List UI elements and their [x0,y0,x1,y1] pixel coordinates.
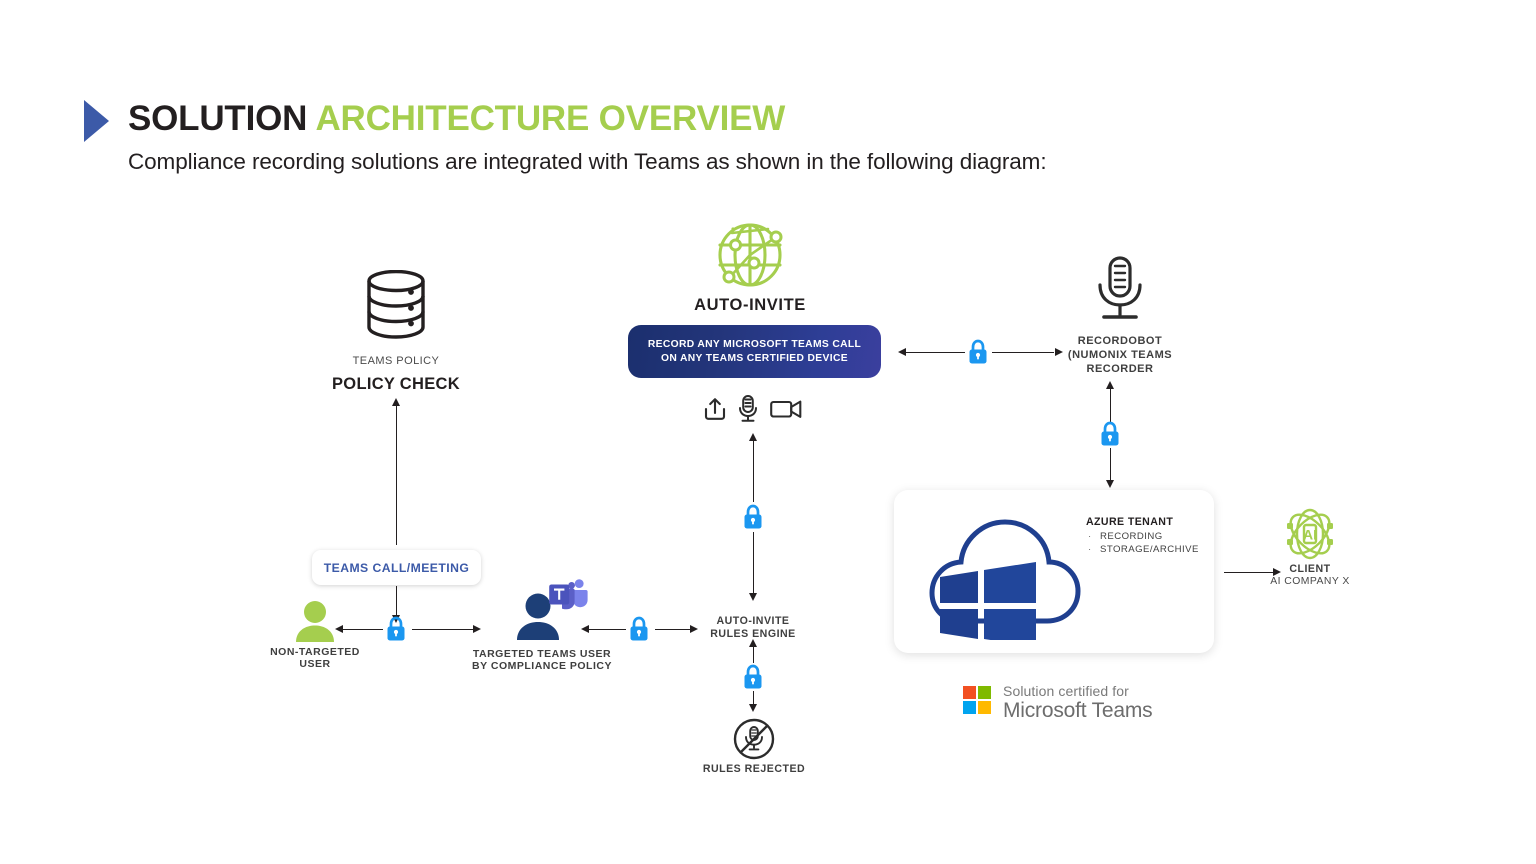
arrow-lock-to-nontargeted-head [335,625,343,633]
arrow-banner-down-line [753,440,754,502]
arrow-rules-up-head2 [749,639,757,647]
arrow-recordobot-right-head [1055,348,1063,356]
ms-teams-certified-logo: Solution certified for Microsoft Teams [963,684,1153,720]
arrow-policy-check-line [396,405,397,545]
ai-atom-icon: AI [1281,505,1339,568]
auto-invite-title: AUTO-INVITE [655,296,845,315]
lock-icon-rules-down [742,664,764,690]
teams-call-meeting-pill: TEAMS CALL/MEETING [312,550,481,585]
targeted-user-caption: TARGETED TEAMS USER BY COMPLIANCE POLICY [458,648,626,673]
client-subtitle: AI COMPANY X [1240,576,1380,588]
arrow-rules-to-lock-line [753,645,754,663]
azure-bullet-marker-1: · [1088,544,1091,555]
arrow-lock-to-targeted-head [473,625,481,633]
arrow-lock-to-rejected-head [749,704,757,712]
page-header: SOLUTION ARCHITECTURE OVERVIEW Complianc… [0,0,1536,200]
azure-tenant-title: AZURE TENANT [1086,516,1173,528]
upload-share-icon [702,396,728,427]
azure-bullet-0: RECORDING [1100,531,1163,542]
azure-cloud-windows-icon [915,505,1085,645]
azure-bullet-marker-0: · [1088,531,1091,542]
arrow-banner-to-lock-line [905,352,965,353]
arrow-lock-to-recordobot-line [992,352,1054,353]
arrow-azure-down-head [1106,480,1114,488]
page-title-part1: SOLUTION [128,99,315,138]
lock-icon-rules-up [742,504,764,530]
microphone-icon [737,394,759,429]
arrow-targeted-left-head [581,625,589,633]
microsoft-teams-logo-icon [548,578,588,617]
database-cylinder-icon [364,270,428,347]
policy-check-title: POLICY CHECK [306,375,486,394]
policy-check-caption: TEAMS POLICY [306,355,486,368]
microphone-muted-icon [732,717,776,766]
ms-certified-line1: Solution certified for [1003,683,1129,699]
arrow-azure-up-line [1110,448,1111,480]
video-camera-icon [770,398,802,425]
arrow-rules-up-line [753,532,754,594]
lock-icon-user-left [385,616,407,642]
arrow-pill-down-line [396,586,397,616]
user-avatar-green-icon [293,600,337,649]
record-banner: RECORD ANY MICROSOFT TEAMS CALL ON ANY T… [628,325,881,378]
rules-engine-caption: AUTO-INVITE RULES ENGINE [683,615,823,640]
microsoft-squares-icon [963,686,993,716]
non-targeted-user-caption: NON-TARGETED USER [245,646,385,671]
arrow-recordobot-down-line [1110,388,1111,422]
arrow-targeted-to-lock-line [588,629,626,630]
azure-bullet-1: STORAGE/ARCHIVE [1100,544,1199,555]
diagram-canvas: SOLUTION ARCHITECTURE OVERVIEW Complianc… [0,0,1536,864]
client-title: CLIENT [1240,563,1380,576]
page-title-part2: ARCHITECTURE OVERVIEW [315,99,785,138]
rules-rejected-caption: RULES REJECTED [684,763,824,776]
triangle-right-icon [84,100,109,142]
arrow-banner-up-head [749,433,757,441]
arrow-lock-to-rejected-line [753,691,754,705]
page-title: SOLUTION ARCHITECTURE OVERVIEW [128,99,785,139]
record-banner-line2: ON ANY TEAMS CERTIFIED DEVICE [648,352,861,366]
arrow-lock-to-targeted-line [412,629,474,630]
arrow-rules-down-head [749,593,757,601]
record-banner-line1: RECORD ANY MICROSOFT TEAMS CALL [648,338,861,352]
lock-icon-recordobot-down [1099,421,1121,447]
arrow-policy-check-head [392,398,400,406]
lock-icon-banner-right [967,339,989,365]
ms-certified-line2: Microsoft Teams [1003,699,1153,723]
globe-network-icon [710,215,790,298]
lock-icon-user-right [628,616,650,642]
ai-atom-label: AI [1303,527,1317,543]
arrow-banner-left-head [898,348,906,356]
arrow-recordobot-up-head [1106,381,1114,389]
studio-microphone-icon [1092,255,1148,332]
recordobot-caption: RECORDOBOT (NUMONIX TEAMS RECORDER [1040,335,1200,376]
teams-call-meeting-label: TEAMS CALL/MEETING [324,561,470,575]
page-subtitle: Compliance recording solutions are integ… [128,149,1046,175]
arrow-lock-to-nontargeted-line [343,629,383,630]
